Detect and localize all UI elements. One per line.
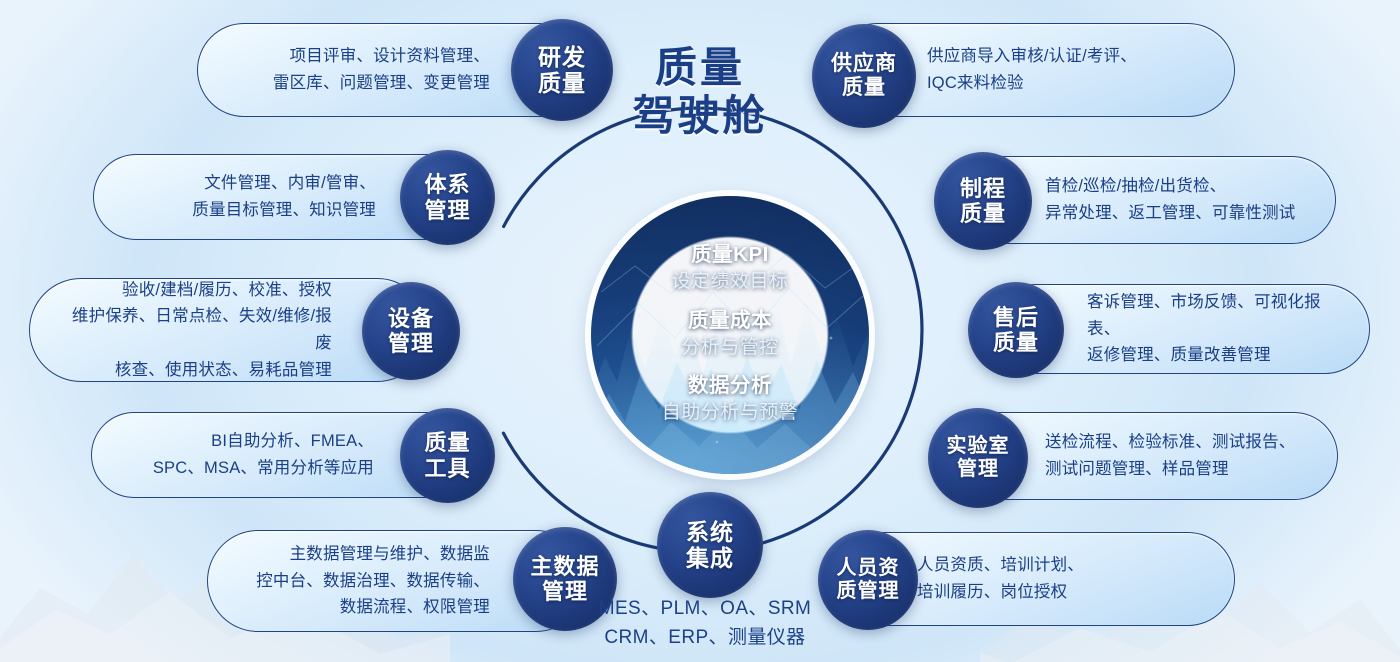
system-integration-caption: MES、PLM、OA、SRM CRM、ERP、测量仪器 xyxy=(560,594,850,653)
module-hub-label: 系统 集成 xyxy=(686,519,734,571)
module-hub-equipment-management[interactable]: 设备 管理 xyxy=(362,282,460,380)
page-title-line2: 驾驶舱 xyxy=(560,92,840,140)
core-item-title: 质量KPI xyxy=(671,243,788,267)
module-hub-label: 供应商 质量 xyxy=(831,52,897,100)
core-item-subtitle: 自助分析与预警 xyxy=(662,402,799,424)
module-hub-label: 售后 质量 xyxy=(993,305,1039,355)
core-sphere: 质量KPI 设定绩效目标 质量成本 分析与管控 数据分析 自助分析与预警 xyxy=(591,196,869,474)
system-integration-caption-line2: CRM、ERP、测量仪器 xyxy=(560,623,850,652)
module-hub-label: 质量 工具 xyxy=(424,430,470,480)
module-hub-after-sales-quality[interactable]: 售后 质量 xyxy=(968,282,1064,378)
module-hub-system-integration[interactable]: 系统 集成 xyxy=(657,492,763,598)
module-hub-label: 设备 管理 xyxy=(388,306,434,356)
core-item-analysis: 数据分析 自助分析与预警 xyxy=(662,374,799,425)
infographic-canvas: 质量KPI 设定绩效目标 质量成本 分析与管控 数据分析 自助分析与预警 质量 … xyxy=(0,0,1400,662)
core-item-subtitle: 分析与管控 xyxy=(681,337,779,359)
system-integration-caption-line1: MES、PLM、OA、SRM xyxy=(560,594,850,623)
page-title: 质量 驾驶舱 xyxy=(560,44,840,141)
module-hub-quality-tools[interactable]: 质量 工具 xyxy=(400,408,495,503)
core-item-cost: 质量成本 分析与管控 xyxy=(681,309,779,360)
module-hub-system-management[interactable]: 体系 管理 xyxy=(400,150,495,245)
module-hub-process-quality[interactable]: 制程 质量 xyxy=(934,152,1032,250)
page-title-line1: 质量 xyxy=(560,44,840,92)
core-item-title: 数据分析 xyxy=(662,374,799,398)
module-hub-label: 体系 管理 xyxy=(424,172,470,222)
module-hub-lab-management[interactable]: 实验室 管理 xyxy=(928,408,1028,508)
module-hub-label: 制程 质量 xyxy=(960,176,1006,226)
module-hub-label: 实验室 管理 xyxy=(947,435,1010,481)
core-item-subtitle: 设定绩效目标 xyxy=(671,271,788,293)
core-item-title: 质量成本 xyxy=(681,309,779,333)
core-item-kpi: 质量KPI 设定绩效目标 xyxy=(671,243,788,294)
